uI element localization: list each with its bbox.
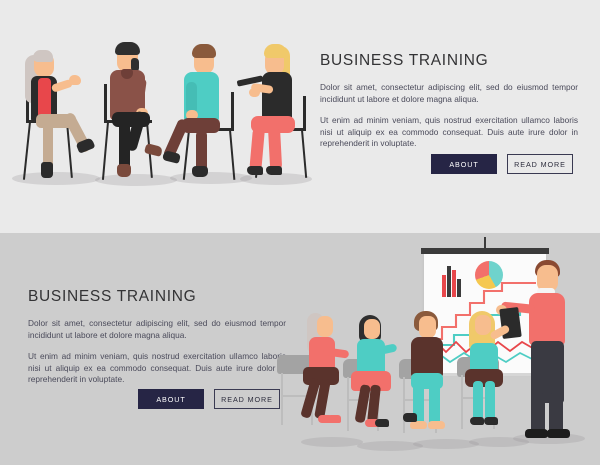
shoe-heel bbox=[484, 417, 498, 425]
shoe-heel bbox=[247, 166, 263, 175]
page-title: BUSINESS TRAINING bbox=[320, 52, 578, 70]
banner-top-buttons: ABOUT READ MORE bbox=[431, 154, 573, 174]
about-button[interactable]: ABOUT bbox=[431, 154, 497, 174]
hair bbox=[33, 50, 53, 62]
torso-sweater bbox=[411, 337, 443, 377]
shoe-heel bbox=[375, 419, 389, 427]
banner-top-text: BUSINESS TRAINING Dolor sit amet, consec… bbox=[320, 52, 578, 150]
shoe bbox=[192, 166, 208, 177]
shoe-heel bbox=[470, 417, 484, 425]
skirt bbox=[465, 369, 503, 387]
torso-shirt bbox=[38, 78, 51, 118]
leg bbox=[429, 383, 440, 425]
torso-top bbox=[262, 72, 292, 122]
read-more-button[interactable]: READ MORE bbox=[507, 154, 573, 174]
figure-audience-blonde bbox=[455, 311, 535, 456]
stool-back bbox=[303, 96, 306, 130]
banner-bottom-text: BUSINESS TRAINING Dolor sit amet, consec… bbox=[28, 288, 286, 386]
stool-back bbox=[231, 92, 234, 130]
page-title: BUSINESS TRAINING bbox=[28, 288, 286, 306]
shoe bbox=[547, 429, 570, 438]
shoe bbox=[162, 150, 181, 164]
head bbox=[317, 316, 333, 337]
hair bbox=[264, 44, 287, 58]
chair-leg bbox=[281, 373, 283, 425]
stool-leg bbox=[301, 130, 307, 178]
banner-bottom-buttons: ABOUT READ MORE bbox=[138, 389, 280, 409]
stool-leg bbox=[102, 122, 109, 180]
shoe-heel bbox=[266, 166, 282, 175]
hair bbox=[115, 42, 140, 55]
stool-leg bbox=[23, 122, 31, 180]
head bbox=[364, 319, 380, 339]
head bbox=[419, 316, 436, 338]
shoe bbox=[428, 421, 445, 429]
shoe bbox=[410, 421, 427, 429]
stool-back bbox=[104, 84, 107, 122]
banner-bottom: BUSINESS TRAINING Dolor sit amet, consec… bbox=[0, 233, 600, 465]
shoe bbox=[403, 413, 417, 422]
illustration-presentation bbox=[285, 233, 600, 465]
leg-lower bbox=[268, 128, 282, 171]
paragraph-2: Ut enim ad minim veniam, quis nostrud ex… bbox=[320, 115, 578, 150]
chair-leg bbox=[347, 377, 349, 431]
shoe-heel bbox=[327, 415, 341, 423]
hand bbox=[249, 88, 260, 97]
paragraph-1: Dolor sit amet, consectetur adipiscing e… bbox=[28, 318, 286, 341]
chair-leg bbox=[461, 375, 463, 429]
paragraph-1: Dolor sit amet, consectetur adipiscing e… bbox=[320, 82, 578, 105]
shoe bbox=[41, 162, 53, 178]
hand bbox=[69, 75, 81, 85]
page-root: BUSINESS TRAINING Dolor sit amet, consec… bbox=[0, 0, 600, 465]
paragraph-2: Ut enim ad minim veniam, quis nostrud ex… bbox=[28, 351, 286, 386]
about-button[interactable]: ABOUT bbox=[138, 389, 204, 409]
hair bbox=[192, 44, 216, 58]
read-more-button[interactable]: READ MORE bbox=[214, 389, 280, 409]
leg bbox=[485, 381, 495, 421]
chair-leg bbox=[403, 377, 405, 433]
whiteboard-pole bbox=[484, 237, 486, 249]
banner-top: BUSINESS TRAINING Dolor sit amet, consec… bbox=[0, 0, 600, 233]
head bbox=[475, 315, 491, 335]
shoe bbox=[117, 164, 131, 177]
illustration-seated-discussion bbox=[0, 0, 310, 233]
stool-leg bbox=[183, 130, 190, 180]
leg-lower bbox=[249, 127, 265, 170]
leg bbox=[473, 381, 483, 421]
leg-lower bbox=[119, 122, 130, 170]
